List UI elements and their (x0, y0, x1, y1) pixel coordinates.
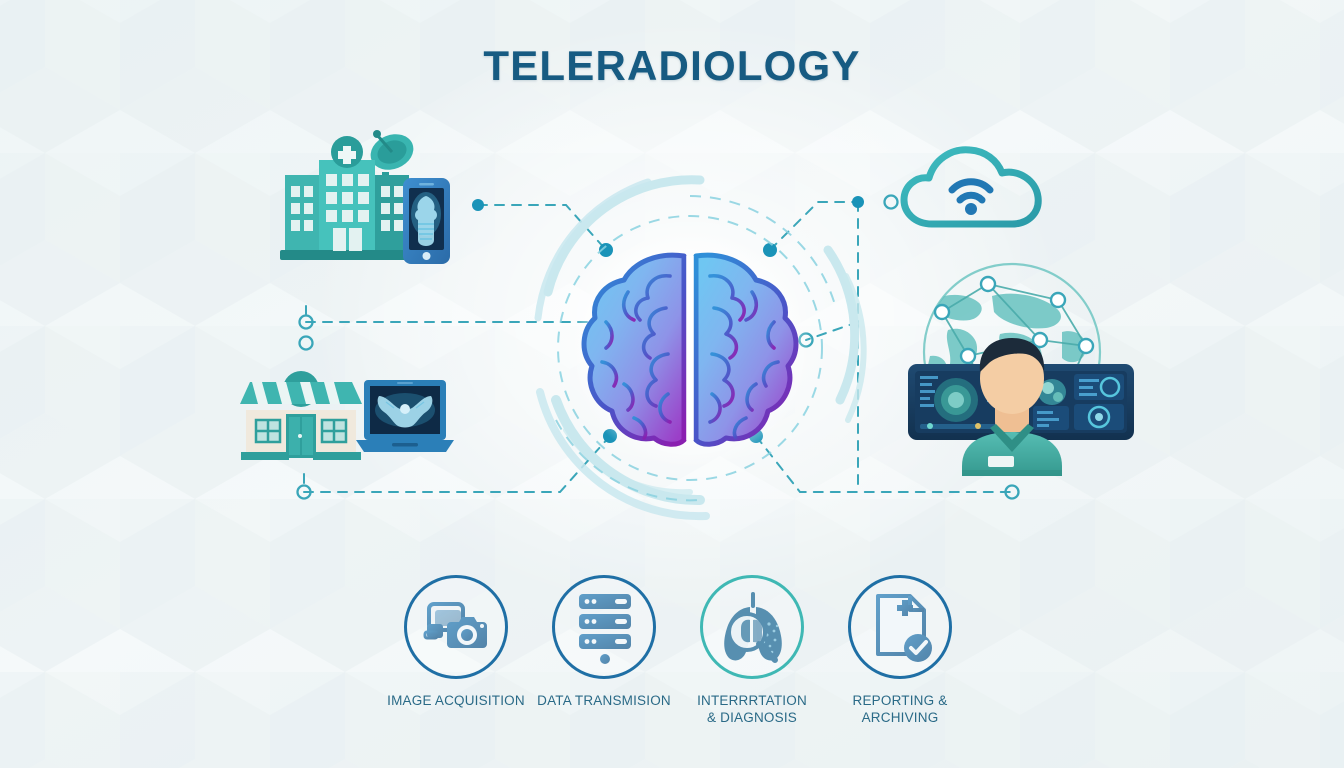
hospital-base (280, 250, 414, 260)
step-label-reporting-archiving: REPORTING & ARCHIVING (853, 693, 948, 727)
step-data-transmision[interactable]: DATA TRANSMISION (530, 575, 678, 755)
step-label-data-transmision: DATA TRANSMISION (537, 693, 671, 710)
hospital-left-wing (285, 175, 319, 253)
step-label-line-1: REPORTING & (853, 693, 948, 708)
cloud-wifi-icon (904, 150, 1038, 224)
step-label-line-2: ARCHIVING (862, 710, 939, 725)
infographic-canvas: TELERADIOLOGY IMAGE ACQUISITION DATA TRA… (0, 0, 1344, 768)
wifi-dot (965, 203, 977, 215)
radiologist-id-badge (988, 456, 1014, 467)
step-reporting-archiving[interactable]: REPORTING & ARCHIVING (826, 575, 974, 755)
workflow-steps: IMAGE ACQUISITION DATA TRANSMISION INTER… (382, 575, 982, 755)
hospital-icon-group (280, 128, 419, 260)
step-ring-data-transmision (552, 575, 656, 679)
step-label-image-acquisition: IMAGE ACQUISITION (387, 693, 525, 710)
step-ring-reporting-archiving (848, 575, 952, 679)
step-label-line-2: & DIAGNOSIS (707, 710, 797, 725)
brain-core-group (538, 180, 864, 516)
radiologist-workstation-group (908, 264, 1134, 476)
wifi-icon (952, 182, 990, 200)
hospital-center-block (319, 160, 375, 253)
step-ring-interrrtation-diagnosis (700, 575, 804, 679)
step-label-line-1: INTERRRTATION (697, 693, 807, 708)
brain-icon (584, 255, 796, 444)
laptop-xray-viewer-icon (356, 380, 454, 452)
step-label-interrrtation-diagnosis: INTERRRTATION & DIAGNOSIS (697, 693, 807, 727)
clinic-icon-group (240, 371, 362, 460)
step-image-acquisition[interactable]: IMAGE ACQUISITION (382, 575, 530, 755)
page-title: TELERADIOLOGY (0, 42, 1344, 90)
step-ring-image-acquisition (404, 575, 508, 679)
step-interrrtation-diagnosis[interactable]: INTERRRTATION & DIAGNOSIS (678, 575, 826, 755)
mobile-xray-viewer-icon (403, 178, 450, 264)
